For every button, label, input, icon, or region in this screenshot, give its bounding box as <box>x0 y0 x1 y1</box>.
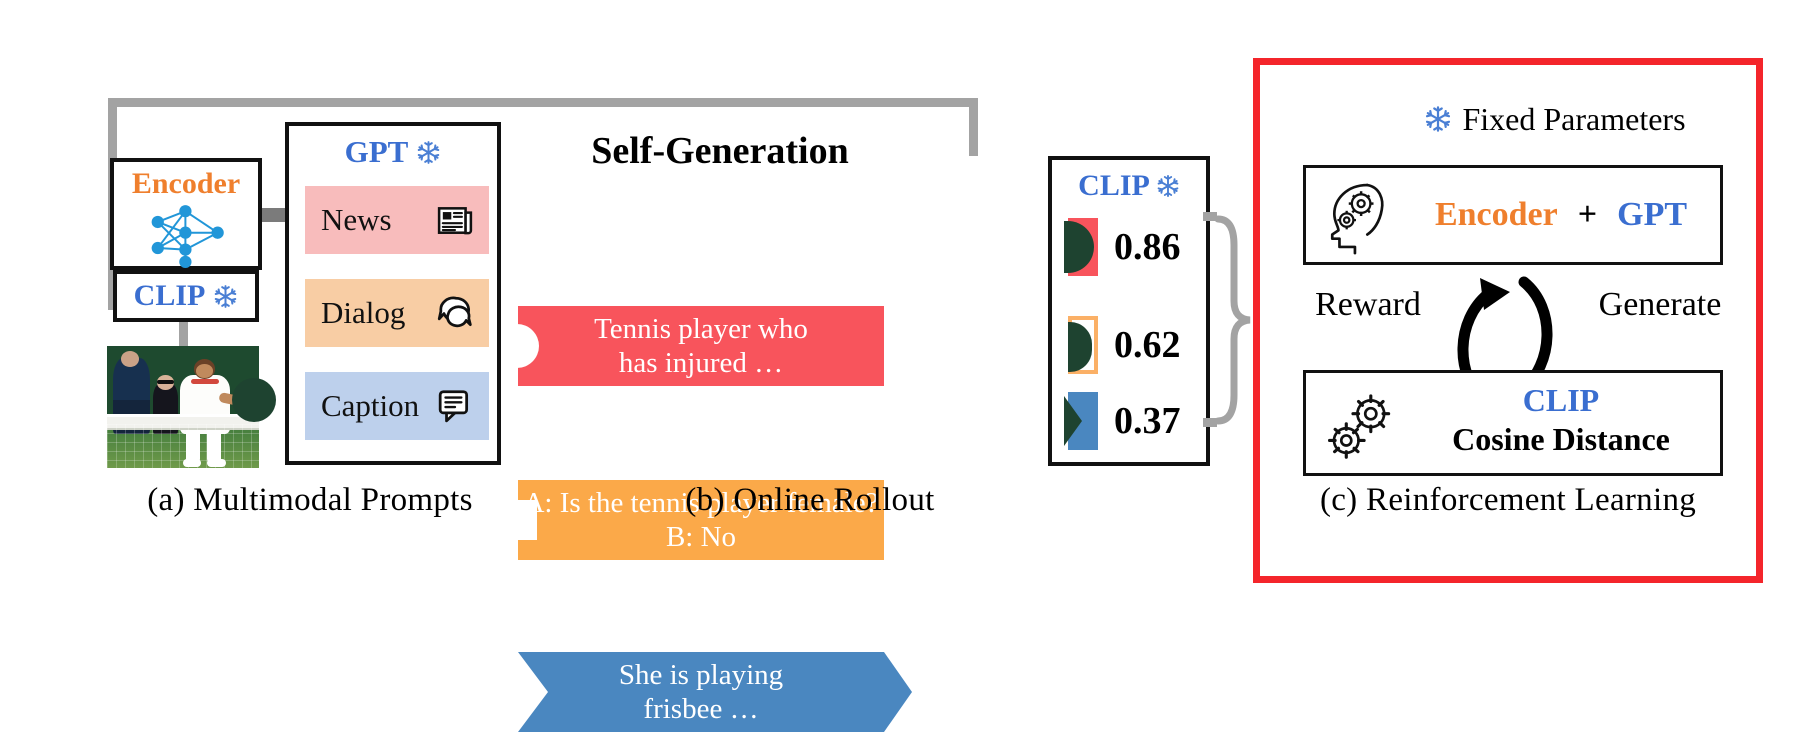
brace-tick-top <box>1203 212 1217 221</box>
generation-caption-line-1: She is playing <box>619 658 783 692</box>
reward-model-subtitle: Cosine Distance <box>1406 420 1716 459</box>
snowflake-icon <box>416 140 441 165</box>
green-marker-circle <box>232 378 276 422</box>
clip-score-row-dialog: 0.62 <box>1068 316 1181 374</box>
clip-score-value-caption: 0.37 <box>1114 399 1181 443</box>
score-gauge-dialog <box>1068 316 1098 374</box>
reward-label: Reward <box>1288 282 1448 328</box>
self-generation-title: Self-Generation <box>530 128 910 174</box>
fixed-parameters-label: Fixed Parameters <box>1462 101 1685 138</box>
clip-score-row-caption: 0.37 <box>1068 392 1181 450</box>
score-gauge-caption <box>1068 392 1098 450</box>
clip-score-value-news: 0.86 <box>1114 225 1181 269</box>
reward-model-box[interactable]: CLIP Cosine Distance <box>1303 370 1723 476</box>
clip-scores-box[interactable]: CLIP 0.86 <box>1048 156 1210 466</box>
policy-plus-sign: + <box>1578 196 1597 234</box>
generate-label-text: Generate <box>1599 286 1722 324</box>
photo-player-collar <box>191 379 220 384</box>
head-gears-icon <box>1324 178 1390 256</box>
prompt-type-caption[interactable]: Caption <box>305 372 489 440</box>
section-caption-a: (a) Multimodal Prompts <box>100 470 520 530</box>
brace-tick-bottom <box>1203 418 1217 427</box>
banner-arrow-notch <box>518 652 548 732</box>
generation-news: Tennis player who has injured … <box>518 306 884 386</box>
feedback-rail-top <box>108 98 978 107</box>
banner-notch <box>517 324 539 368</box>
speech-bubble-icon <box>435 296 473 330</box>
gpt-header: GPT <box>289 130 497 174</box>
gpt-header-label: GPT <box>345 134 409 170</box>
encoder-label-text: Encoder <box>132 167 240 201</box>
neural-network-icon <box>132 202 248 268</box>
banner-notch <box>517 500 537 540</box>
section-caption-a-text: (a) Multimodal Prompts <box>147 482 473 519</box>
generate-label: Generate <box>1570 282 1750 328</box>
generation-caption-line-2: frisbee … <box>619 692 783 726</box>
reward-model-title: CLIP <box>1406 381 1716 420</box>
section-caption-b-text: (b) Online Rollout <box>685 482 934 519</box>
clip-score-value-dialog: 0.62 <box>1114 323 1181 367</box>
feedback-rail-right-down <box>969 98 978 156</box>
snowflake-icon <box>1156 174 1180 198</box>
snowflake-icon <box>213 284 238 309</box>
gpt-prompt-box[interactable]: GPT News <box>285 122 501 465</box>
policy-box-labels: Encoder + GPT <box>1402 168 1720 262</box>
clip-box[interactable]: CLIP <box>113 270 259 322</box>
policy-box[interactable]: Encoder + GPT <box>1303 165 1723 265</box>
prompt-type-dialog-label: Dialog <box>321 295 405 331</box>
snowflake-icon <box>1424 105 1452 133</box>
photo-spectator-sunglasses <box>157 380 174 384</box>
clip-score-row-news: 0.86 <box>1068 218 1181 276</box>
photo-umpire-head <box>121 351 139 367</box>
policy-encoder-label: Encoder <box>1435 196 1558 234</box>
prompt-type-caption-label: Caption <box>321 388 419 424</box>
generation-news-line-2: has injured … <box>594 346 808 380</box>
generation-caption: She is playing frisbee … <box>518 652 884 732</box>
clip-box-label: CLIP <box>134 279 206 313</box>
banner-arrow-head <box>884 652 912 732</box>
clip-image-connector <box>179 322 188 346</box>
reward-brace <box>1212 215 1252 425</box>
newspaper-icon <box>437 204 473 236</box>
gears-icon <box>1324 385 1402 467</box>
prompt-type-news-label: News <box>321 202 392 238</box>
caption-bubble-icon <box>437 389 473 423</box>
generation-news-line-1: Tennis player who <box>594 312 808 346</box>
encoder-label: Encoder <box>114 166 258 202</box>
reward-model-labels: CLIP Cosine Distance <box>1406 381 1716 459</box>
prompt-type-dialog[interactable]: Dialog <box>305 279 489 347</box>
reward-label-text: Reward <box>1315 286 1421 324</box>
fixed-parameters-legend: Fixed Parameters <box>1380 98 1730 140</box>
section-caption-c: (c) Reinforcement Learning <box>1268 470 1748 530</box>
section-caption-b: (b) Online Rollout <box>600 470 1020 530</box>
score-gauge-news <box>1068 218 1098 276</box>
photo-player-shoe-left <box>183 459 201 466</box>
figure-root: Encoder CLIP <box>0 0 1818 623</box>
self-generation-title-text: Self-Generation <box>591 129 849 173</box>
photo-player-shoe-right <box>207 459 225 466</box>
clip-scores-header-label: CLIP <box>1078 169 1150 203</box>
policy-gpt-label: GPT <box>1617 196 1687 234</box>
prompt-type-news[interactable]: News <box>305 186 489 254</box>
clip-scores-header: CLIP <box>1052 164 1206 208</box>
section-caption-c-text: (c) Reinforcement Learning <box>1320 482 1696 519</box>
encoder-box[interactable]: Encoder <box>110 158 262 270</box>
photo-player-face <box>196 364 213 377</box>
